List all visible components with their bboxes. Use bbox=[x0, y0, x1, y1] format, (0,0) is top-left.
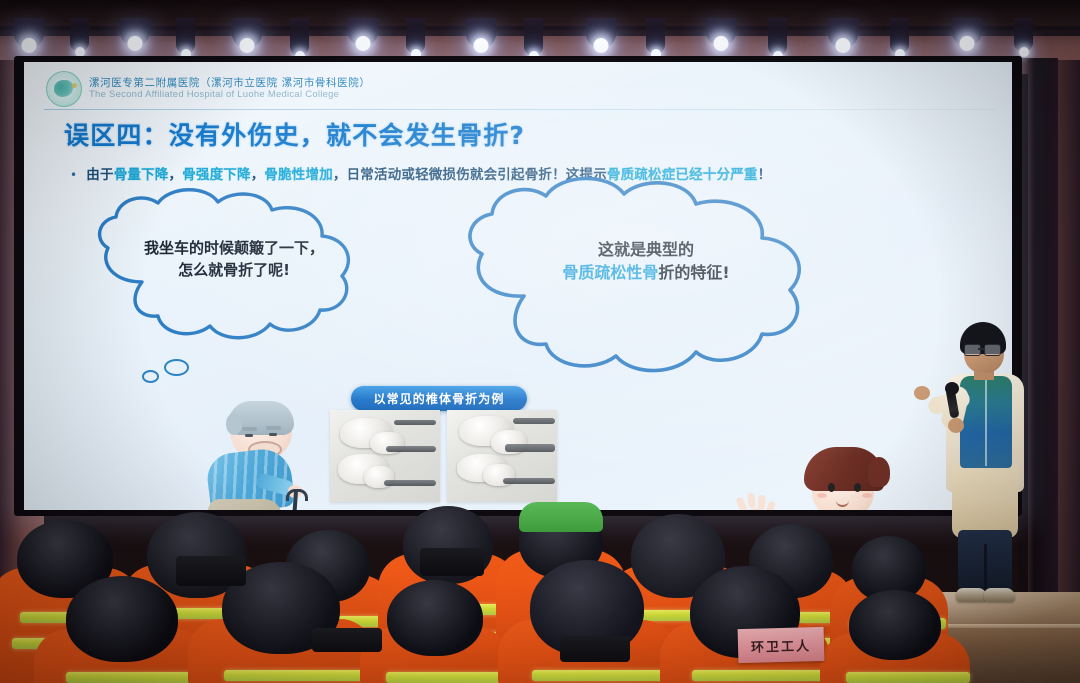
bullet-marker: • bbox=[70, 168, 77, 182]
header-divider bbox=[44, 109, 996, 110]
stage-light-12 bbox=[646, 18, 665, 54]
light-bulb-icon bbox=[240, 38, 255, 53]
stage-light-13 bbox=[706, 18, 736, 46]
audience-member bbox=[498, 560, 676, 683]
bubble-line: 我坐车的时候颠簸了一下， bbox=[84, 238, 384, 260]
audience-member bbox=[360, 580, 510, 683]
plain-text: 这就是典型的 bbox=[598, 240, 694, 259]
reflective-stripe bbox=[846, 672, 970, 683]
seat-back bbox=[560, 636, 630, 662]
reflective-stripe bbox=[532, 670, 676, 681]
audience-sign: 环卫工人 bbox=[738, 627, 825, 663]
highlight-text: 骨量下降 bbox=[114, 167, 169, 183]
thought-dot-small bbox=[142, 370, 159, 383]
highlight-text: 骨质疏松性骨 bbox=[562, 263, 658, 282]
stage-light-5 bbox=[232, 18, 262, 48]
audience-sign-label: 环卫工人 bbox=[751, 635, 811, 656]
light-bulb-icon bbox=[960, 36, 975, 51]
hospital-name-en: The Second Affiliated Hospital of Luohe … bbox=[89, 90, 370, 101]
stage-light-9 bbox=[466, 18, 496, 48]
plain-text: ， bbox=[251, 167, 265, 183]
highlight-text: 骨脆性增加 bbox=[264, 167, 333, 183]
audience-member bbox=[660, 566, 830, 683]
stage-light-8 bbox=[406, 18, 425, 54]
lecture-hall-scene: 漯河医专第二附属医院（漯河市立医院 漯河市骨科医院） The Second Af… bbox=[0, 0, 1080, 683]
thought-dot-large bbox=[164, 359, 189, 376]
stage-light-3 bbox=[120, 18, 150, 46]
vertebra-xray-right bbox=[447, 410, 557, 502]
stage-light-7 bbox=[348, 18, 378, 46]
audience-cap bbox=[519, 502, 603, 532]
plain-text: 折的特征! bbox=[658, 263, 729, 282]
plain-text: ， bbox=[169, 167, 183, 183]
light-bulb-icon bbox=[836, 38, 851, 53]
elderly-man-illustration bbox=[200, 403, 304, 510]
bubble-line: 怎么就骨折了呢! bbox=[84, 260, 384, 282]
slide-header: 漯河医专第二附属医院（漯河市立医院 漯河市骨科医院） The Second Af… bbox=[46, 71, 370, 107]
hospital-name-block: 漯河医专第二附属医院（漯河市立医院 漯河市骨科医院） The Second Af… bbox=[89, 78, 370, 100]
stage-light-11 bbox=[586, 18, 616, 48]
example-pill-label: 以常见的椎体骨折为例 bbox=[373, 390, 504, 407]
light-bulb-icon bbox=[474, 38, 489, 53]
reflective-stripe bbox=[66, 672, 208, 683]
seat-back bbox=[420, 548, 484, 576]
projection-screen: 漯河医专第二附属医院（漯河市立医院 漯河市骨科医院） The Second Af… bbox=[24, 62, 1012, 510]
light-bulb-icon bbox=[128, 36, 143, 51]
hospital-name-cn: 漯河医专第二附属医院（漯河市立医院 漯河市骨科医院） bbox=[89, 78, 370, 90]
light-bulb-icon bbox=[356, 36, 371, 51]
plain-text: 怎么就骨折了呢! bbox=[178, 261, 290, 279]
doctor-illustration bbox=[784, 449, 902, 510]
seat-back bbox=[176, 556, 246, 586]
reflective-stripe bbox=[692, 670, 830, 681]
stage-light-15 bbox=[828, 18, 858, 48]
audience-head bbox=[66, 576, 178, 662]
plain-text: 我坐车的时候颠簸了一下， bbox=[144, 239, 324, 257]
vertebra-xray-left bbox=[330, 410, 440, 502]
slide-title: 误区四：没有外伤史，就不会发生骨折? bbox=[64, 116, 525, 152]
vertebra-xray-panels bbox=[330, 410, 557, 502]
stage-light-4 bbox=[176, 18, 195, 54]
plain-text: 由于 bbox=[86, 167, 113, 183]
stage-light-1 bbox=[14, 18, 44, 48]
example-pill-badge: 以常见的椎体骨折为例 bbox=[351, 386, 527, 411]
light-bulb-icon bbox=[594, 38, 609, 53]
patient-thought-bubble: 我坐车的时候颠簸了一下，怎么就骨折了呢! bbox=[84, 190, 384, 348]
audience-head bbox=[387, 580, 483, 656]
audience-member bbox=[34, 576, 210, 683]
stage-light-6 bbox=[290, 18, 309, 56]
audience-member bbox=[820, 590, 970, 683]
stage-light-2 bbox=[70, 18, 89, 52]
bubble-line: 骨质疏松性骨折的特征! bbox=[448, 261, 844, 284]
highlight-text: 骨强度下降 bbox=[182, 167, 251, 183]
seat-back bbox=[312, 628, 382, 652]
doctor-thought-bubble: 这就是典型的骨质疏松性骨折的特征! bbox=[448, 180, 844, 374]
stage-light-16 bbox=[890, 18, 909, 54]
stage-light-10 bbox=[524, 18, 543, 56]
stage-light-14 bbox=[768, 18, 787, 56]
light-bulb-icon bbox=[714, 36, 729, 51]
reflective-stripe bbox=[224, 670, 374, 681]
hospital-logo-icon bbox=[46, 71, 82, 107]
stage-light-17 bbox=[952, 18, 982, 46]
audience-head bbox=[849, 590, 941, 660]
reflective-stripe bbox=[386, 672, 510, 683]
light-bulb-icon bbox=[22, 38, 37, 53]
bubble-line: 这就是典型的 bbox=[448, 238, 844, 261]
stage-light-18 bbox=[1014, 18, 1033, 52]
